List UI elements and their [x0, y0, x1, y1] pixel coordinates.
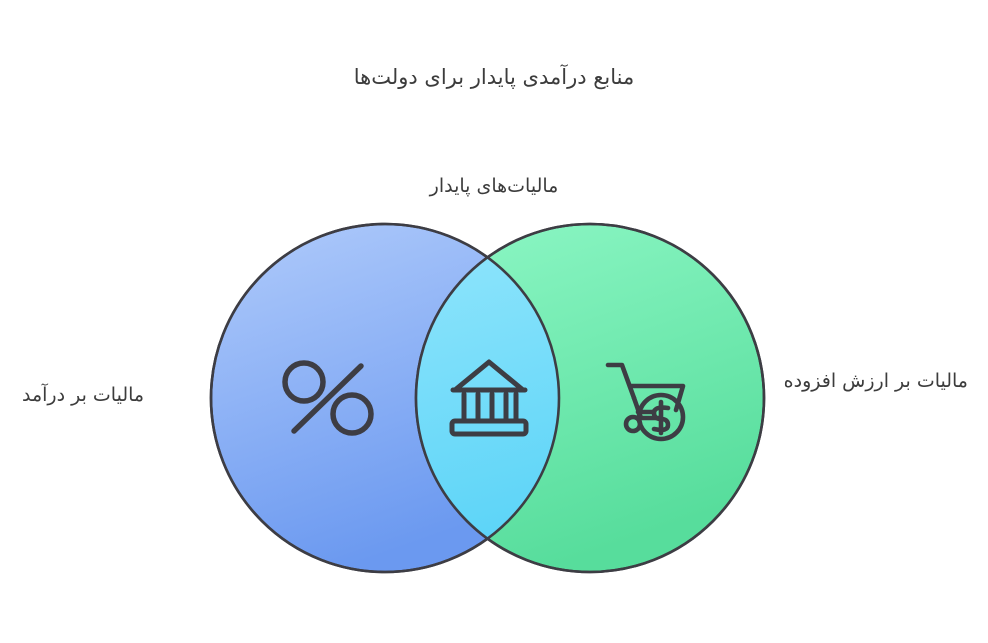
diagram-canvas: منابع درآمدی پایدار برای دولت‌ها مالیات‌…: [0, 0, 988, 643]
venn-diagram-graphic: [0, 0, 988, 643]
